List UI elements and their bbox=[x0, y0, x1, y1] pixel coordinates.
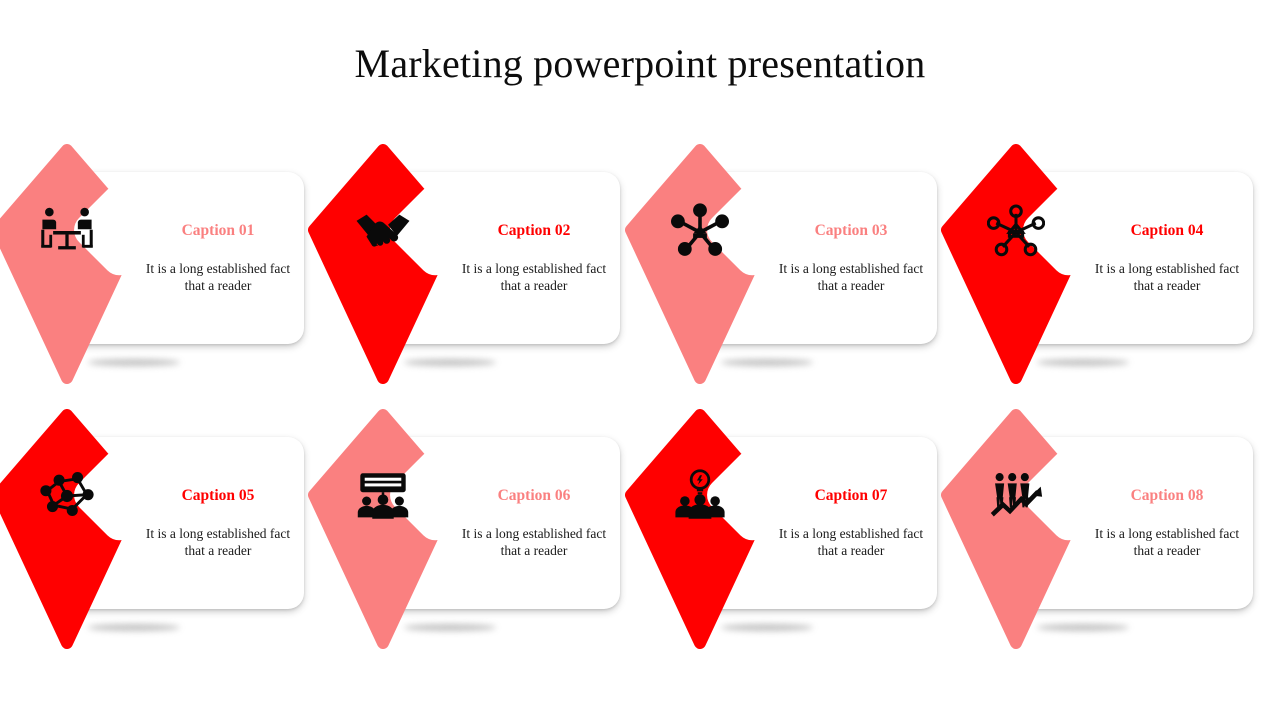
info-card-text: Caption 07 It is a long established fact… bbox=[771, 437, 931, 609]
caption-label: Caption 05 bbox=[182, 487, 255, 504]
map-pin-marker[interactable] bbox=[625, 409, 775, 649]
network-hub-outline-icon bbox=[987, 202, 1045, 260]
list-item[interactable]: Caption 06 It is a long established fact… bbox=[316, 415, 636, 680]
map-pin-marker[interactable] bbox=[0, 144, 142, 384]
info-card-text: Caption 02 It is a long established fact… bbox=[454, 172, 614, 344]
description-text: It is a long established fact that a rea… bbox=[1092, 526, 1242, 560]
network-hub-solid-icon bbox=[671, 202, 729, 260]
caption-label: Caption 07 bbox=[815, 487, 888, 504]
handshake-icon bbox=[354, 202, 412, 260]
list-item[interactable]: Caption 07 It is a long established fact… bbox=[633, 415, 953, 680]
caption-label: Caption 03 bbox=[815, 222, 888, 239]
description-text: It is a long established fact that a rea… bbox=[143, 526, 293, 560]
description-text: It is a long established fact that a rea… bbox=[776, 526, 926, 560]
presentation-audience-icon bbox=[354, 467, 412, 525]
map-pin-marker[interactable] bbox=[941, 409, 1091, 649]
map-pin-marker[interactable] bbox=[308, 409, 458, 649]
list-item[interactable]: Caption 05 It is a long established fact… bbox=[0, 415, 320, 680]
caption-label: Caption 02 bbox=[498, 222, 571, 239]
description-text: It is a long established fact that a rea… bbox=[1092, 261, 1242, 295]
team-growth-chart-icon bbox=[987, 467, 1045, 525]
description-text: It is a long established fact that a rea… bbox=[776, 261, 926, 295]
map-pin-marker[interactable] bbox=[0, 409, 142, 649]
meeting-table-icon bbox=[38, 202, 96, 260]
caption-label: Caption 06 bbox=[498, 487, 571, 504]
info-card-text: Caption 01 It is a long established fact… bbox=[138, 172, 298, 344]
map-pin-marker[interactable] bbox=[308, 144, 458, 384]
info-card-text: Caption 05 It is a long established fact… bbox=[138, 437, 298, 609]
team-idea-bulb-icon bbox=[671, 467, 729, 525]
description-text: It is a long established fact that a rea… bbox=[143, 261, 293, 295]
info-card-text: Caption 08 It is a long established fact… bbox=[1087, 437, 1247, 609]
pin-card-grid: Caption 01 It is a long established fact… bbox=[0, 150, 1280, 690]
map-pin-marker[interactable] bbox=[941, 144, 1091, 384]
caption-label: Caption 04 bbox=[1131, 222, 1204, 239]
caption-label: Caption 08 bbox=[1131, 487, 1204, 504]
slide-title: Marketing powerpoint presentation bbox=[0, 40, 1280, 87]
molecule-cluster-icon bbox=[38, 467, 96, 525]
description-text: It is a long established fact that a rea… bbox=[459, 261, 609, 295]
description-text: It is a long established fact that a rea… bbox=[459, 526, 609, 560]
info-card-text: Caption 04 It is a long established fact… bbox=[1087, 172, 1247, 344]
caption-label: Caption 01 bbox=[182, 222, 255, 239]
info-card-text: Caption 06 It is a long established fact… bbox=[454, 437, 614, 609]
map-pin-marker[interactable] bbox=[625, 144, 775, 384]
info-card-text: Caption 03 It is a long established fact… bbox=[771, 172, 931, 344]
list-item[interactable]: Caption 08 It is a long established fact… bbox=[949, 415, 1269, 680]
